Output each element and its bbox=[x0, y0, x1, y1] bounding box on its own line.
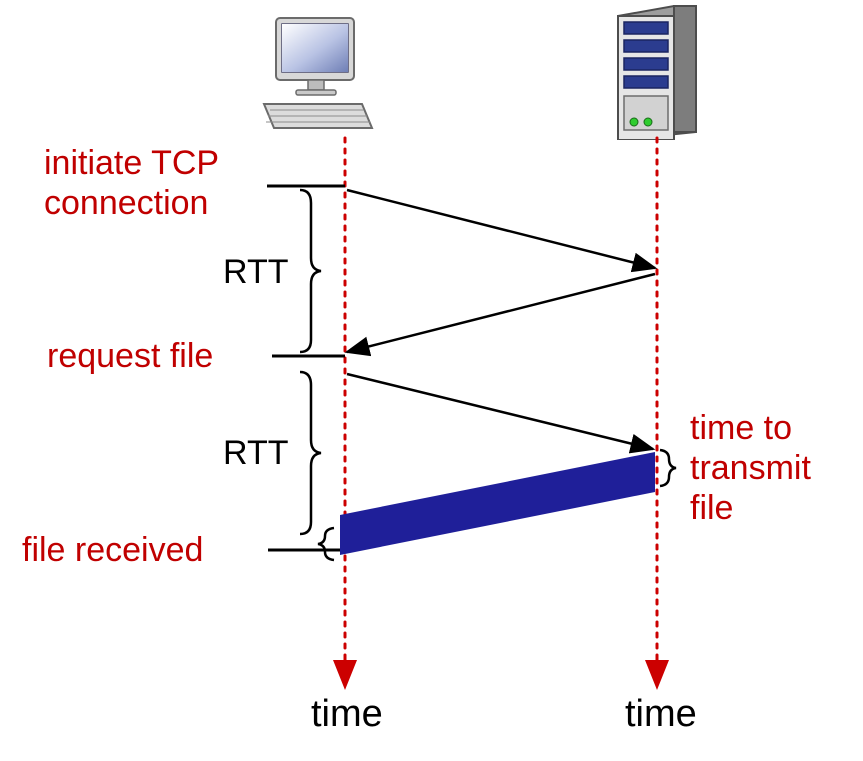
arrow-syn bbox=[347, 190, 655, 268]
label-rtt-2: RTT bbox=[223, 433, 288, 473]
label-initiate-tcp-connection: initiate TCP connection bbox=[44, 143, 219, 223]
arrow-request bbox=[347, 374, 653, 449]
diagram-vectors bbox=[0, 0, 863, 761]
rtt-brace-2 bbox=[300, 372, 321, 534]
label-request-file: request file bbox=[47, 336, 213, 376]
label-time-client: time bbox=[311, 694, 383, 734]
label-file-received: file received bbox=[22, 530, 203, 570]
received-brace bbox=[318, 528, 334, 560]
diagram-canvas: initiate TCP connection request file fil… bbox=[0, 0, 863, 761]
arrow-synack bbox=[347, 274, 655, 352]
label-time-to-transmit-file: time to transmit file bbox=[690, 408, 811, 528]
rtt-brace-1 bbox=[300, 190, 321, 352]
label-time-server: time bbox=[625, 694, 697, 734]
label-rtt-1: RTT bbox=[223, 252, 288, 292]
transmit-brace bbox=[660, 450, 676, 486]
transmit-bar bbox=[340, 452, 655, 555]
